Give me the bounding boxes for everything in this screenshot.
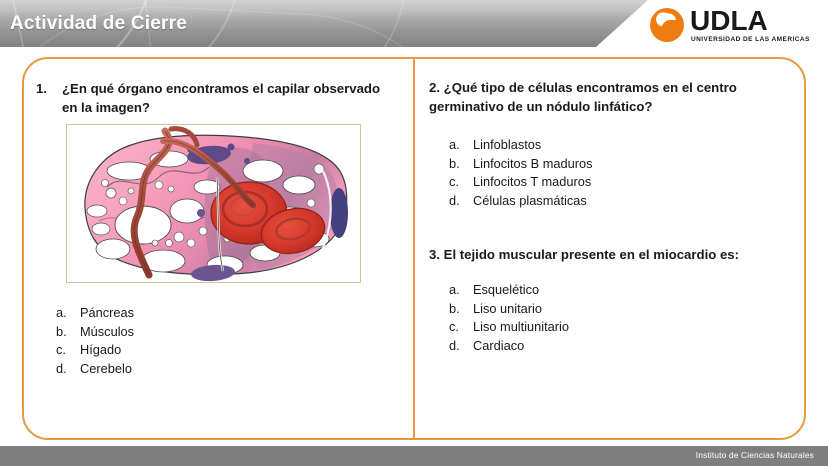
option-label: b.: [449, 300, 460, 319]
option-label: b.: [56, 323, 67, 342]
option-label: a.: [449, 281, 460, 300]
option-item[interactable]: b. Músculos: [44, 323, 134, 342]
option-text: Liso multiunitario: [473, 319, 569, 334]
footer-bar: Instituto de Ciencias Naturales: [0, 446, 828, 466]
right-column: 2. ¿Qué tipo de células encontramos en e…: [415, 57, 806, 440]
question-1-number: 1.: [36, 79, 47, 98]
option-label: d.: [449, 192, 460, 211]
capillary-cross-section-illustration: [66, 124, 361, 283]
option-item[interactable]: a. Linfoblastos: [437, 136, 593, 155]
question-2-options: a. Linfoblastos b. Linfocitos B maduros …: [437, 136, 593, 210]
option-item[interactable]: d. Cardiaco: [437, 337, 569, 356]
option-text: Cerebelo: [80, 361, 132, 376]
option-item[interactable]: a. Páncreas: [44, 304, 134, 323]
option-text: Linfocitos B maduros: [473, 156, 593, 171]
option-text: Liso unitario: [473, 301, 542, 316]
option-label: c.: [449, 173, 459, 192]
option-label: b.: [449, 155, 460, 174]
option-label: a.: [449, 136, 460, 155]
option-text: Cardiaco: [473, 338, 524, 353]
option-label: c.: [56, 341, 66, 360]
option-text: Linfoblastos: [473, 137, 541, 152]
question-1: 1. ¿En qué órgano encontramos el capilar…: [36, 79, 396, 117]
option-item[interactable]: c. Liso multiunitario: [437, 318, 569, 337]
udla-swoosh-icon: [650, 8, 684, 42]
udla-wordmark: UDLA: [690, 6, 768, 36]
udla-tagline: UNIVERSIDAD DE LAS AMERICAS: [691, 36, 810, 43]
option-item[interactable]: b. Linfocitos B maduros: [437, 155, 593, 174]
question-1-options: a. Páncreas b. Músculos c. Hígado d. Cer…: [44, 304, 134, 378]
footer-institute-label: Instituto de Ciencias Naturales: [696, 450, 814, 460]
option-item[interactable]: a. Esquelético: [437, 281, 569, 300]
left-column: 1. ¿En qué órgano encontramos el capilar…: [22, 57, 413, 440]
udla-logo: UDLA UNIVERSIDAD DE LAS AMERICAS: [650, 6, 814, 48]
page-title: Actividad de Cierre: [10, 13, 187, 35]
question-3: 3. El tejido muscular presente en el mio…: [429, 245, 779, 264]
option-text: Esquelético: [473, 282, 539, 297]
option-item[interactable]: d. Células plasmáticas: [437, 192, 593, 211]
option-text: Músculos: [80, 324, 134, 339]
question-3-options: a. Esquelético b. Liso unitario c. Liso …: [437, 281, 569, 355]
option-item[interactable]: c. Linfocitos T maduros: [437, 173, 593, 192]
question-2: 2. ¿Qué tipo de células encontramos en e…: [429, 78, 769, 116]
option-label: c.: [449, 318, 459, 337]
slide-root: Actividad de Cierre UDLA UNIVERSIDAD DE …: [0, 0, 828, 466]
option-item[interactable]: d. Cerebelo: [44, 360, 134, 379]
option-text: Linfocitos T maduros: [473, 174, 591, 189]
option-text: Páncreas: [80, 305, 134, 320]
option-item[interactable]: c. Hígado: [44, 341, 134, 360]
option-text: Células plasmáticas: [473, 193, 587, 208]
option-label: d.: [56, 360, 67, 379]
option-label: a.: [56, 304, 67, 323]
question-1-text: ¿En qué órgano encontramos el capilar ob…: [62, 79, 396, 117]
option-text: Hígado: [80, 342, 121, 357]
option-item[interactable]: b. Liso unitario: [437, 300, 569, 319]
option-label: d.: [449, 337, 460, 356]
